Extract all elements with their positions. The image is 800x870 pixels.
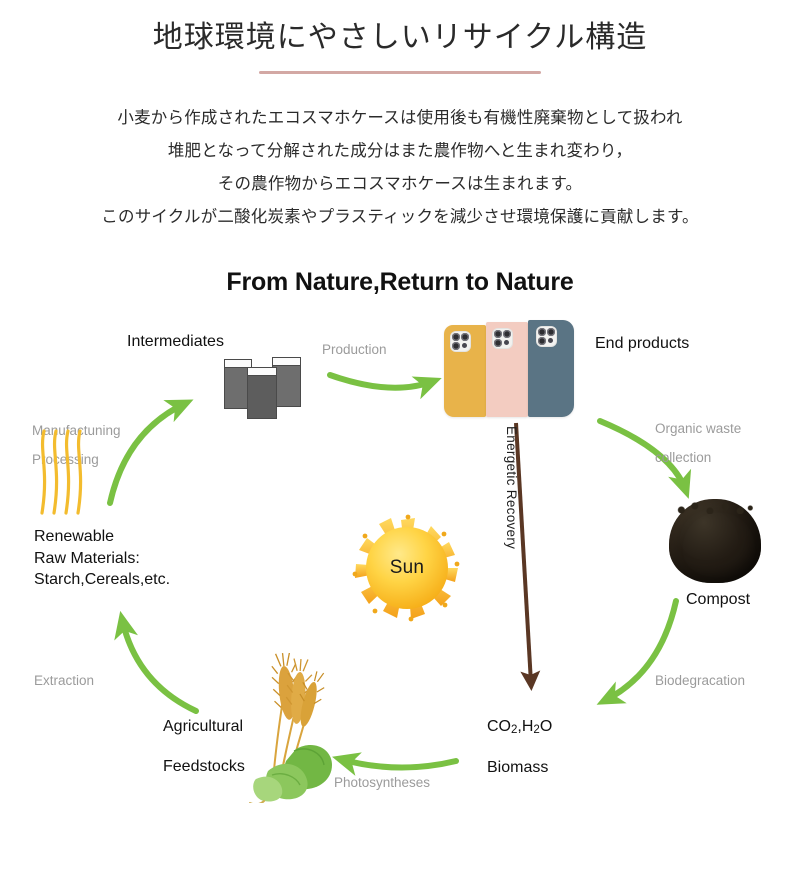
- phone-cases-icon: [444, 319, 574, 417]
- co2-post: O: [540, 718, 552, 735]
- page-header: 地球環境にやさしいリサイクル構造: [0, 0, 800, 74]
- co2-formula: CO2,H2O: [487, 716, 552, 739]
- sun-label: Sun: [390, 557, 424, 579]
- lead-line-4: このサイクルが二酸化炭素やプラスティックを減少させ環境保護に貢献します。: [20, 201, 780, 234]
- node-label-agricultural-feedstocks: Agricultural Feedstocks: [163, 716, 245, 777]
- agricultural-line-2: Feedstocks: [163, 756, 245, 778]
- arrow-production: [330, 375, 434, 388]
- phone-case-yellow: [444, 325, 486, 417]
- pellets-icon: [222, 355, 314, 417]
- edge-label-photosynthesis: Photosyntheses: [334, 773, 430, 794]
- biomass-label: Biomass: [487, 757, 552, 779]
- edge-label-energetic-recovery: Energetic Recovery: [504, 426, 519, 549]
- arrow-manufacturing: [110, 403, 186, 503]
- edge-label-extraction: Extraction: [34, 671, 94, 692]
- renewable-line-3: Starch,Cereals,etc.: [34, 569, 170, 591]
- node-label-intermediates: Intermediates: [127, 331, 224, 353]
- node-label-compost: Compost: [686, 589, 750, 611]
- node-label-renewable-raw-materials: Renewable Raw Materials: Starch,Cereals,…: [34, 526, 170, 591]
- compost-icon: [669, 499, 761, 583]
- wheat-ears: [270, 653, 328, 729]
- organic-waste-line-2: collection: [655, 448, 741, 469]
- co2-mid: ,H: [517, 718, 533, 735]
- phone-case-blue: [528, 320, 574, 417]
- recycle-cycle-diagram: Sun: [0, 301, 800, 841]
- camera-module-icon: [492, 328, 513, 349]
- edge-label-biodegradation: Biodegracation: [655, 671, 745, 692]
- agricultural-line-1: Agricultural: [163, 716, 245, 738]
- diagram-title: From Nature,Return to Nature: [0, 268, 800, 297]
- node-label-end-products: End products: [595, 333, 689, 355]
- sun-icon: Sun: [345, 506, 469, 630]
- arrow-extraction: [122, 619, 196, 711]
- node-label-co2-biomass: CO2,H2O Biomass: [487, 716, 552, 778]
- lead-line-3: その農作物からエコスマホケースは生まれます。: [20, 168, 780, 201]
- pellet-center: [247, 367, 277, 419]
- lead-line-2: 堆肥となって分解された成分はまた農作物へと生まれ変わり，: [20, 135, 780, 168]
- renewable-line-1: Renewable: [34, 526, 170, 548]
- page-title: 地球環境にやさしいリサイクル構造: [0, 18, 800, 57]
- renewable-line-2: Raw Materials:: [34, 548, 170, 570]
- lead-line-1: 小麦から作成されたエコスマホケースは使用後も有機性廃棄物として扱われ: [20, 102, 780, 135]
- organic-waste-line-1: Organic waste: [655, 419, 741, 440]
- edge-label-organic-waste-collection: Organic waste collection: [655, 419, 741, 469]
- sun-core: Sun: [366, 527, 448, 609]
- title-divider: [259, 71, 541, 74]
- co2-pre: CO: [487, 718, 511, 735]
- leafy-greens: [250, 745, 332, 803]
- camera-module-icon: [450, 331, 471, 352]
- sunlight-beams-icon: [34, 429, 94, 515]
- lead-paragraph: 小麦から作成されたエコスマホケースは使用後も有機性廃棄物として扱われ 堆肥となっ…: [20, 102, 780, 234]
- arrow-photosynthesis: [340, 759, 456, 768]
- phone-case-pink: [486, 322, 528, 417]
- edge-label-production: Production: [322, 340, 387, 361]
- camera-module-icon: [536, 326, 557, 347]
